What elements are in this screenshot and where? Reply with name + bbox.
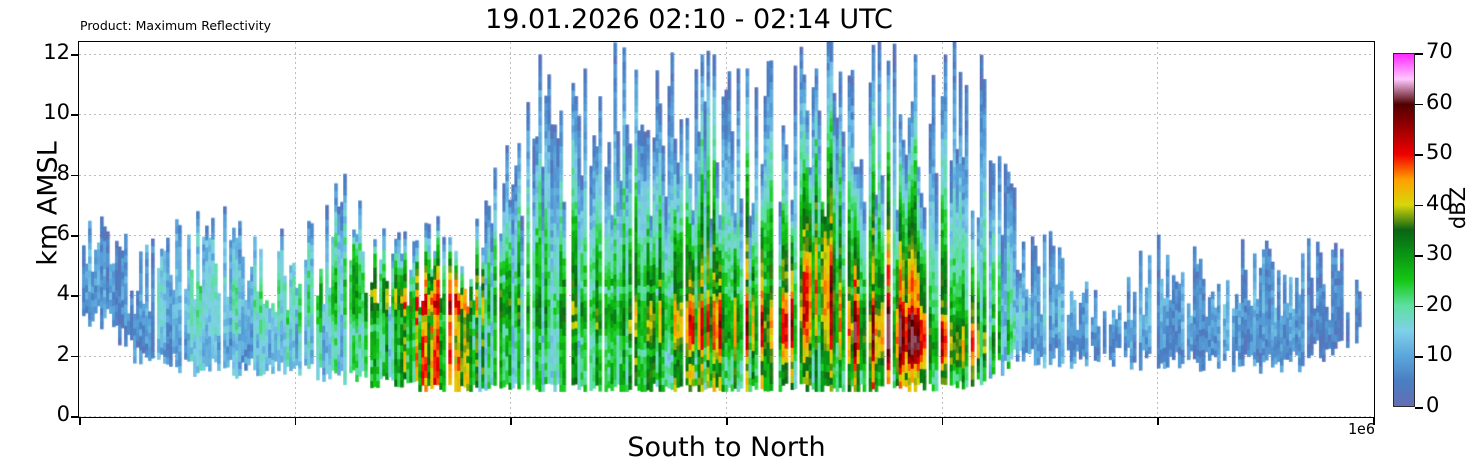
y-tick-mark bbox=[71, 356, 78, 358]
y-tick-label-12: 12 bbox=[43, 40, 70, 64]
x-tick-mark bbox=[1157, 418, 1159, 425]
colorbar-tick-mark bbox=[1415, 53, 1423, 55]
colorbar-tick-label-20: 20 bbox=[1426, 292, 1453, 316]
colorbar-tick-label-0: 0 bbox=[1426, 393, 1439, 417]
plot-area[interactable] bbox=[78, 41, 1375, 418]
colorbar-tick-mark bbox=[1415, 205, 1423, 207]
radar-cross-section-figure: Product: Maximum Reflectivity 19.01.2026… bbox=[0, 0, 1482, 470]
y-tick-mark bbox=[71, 54, 78, 56]
y-axis-label: km AMSL bbox=[33, 114, 64, 294]
x-axis-label: South to North bbox=[78, 432, 1375, 463]
y-tick-label-2: 2 bbox=[57, 342, 70, 366]
x-tick-mark bbox=[79, 418, 81, 425]
y-tick-mark bbox=[71, 175, 78, 177]
x-tick-mark bbox=[726, 418, 728, 425]
colorbar-tick-mark bbox=[1415, 154, 1423, 156]
y-tick-label-10: 10 bbox=[43, 100, 70, 124]
colorbar-tick-mark bbox=[1415, 255, 1423, 257]
colorbar-tick-mark bbox=[1415, 306, 1423, 308]
reflectivity-heatmap bbox=[79, 42, 1374, 417]
y-tick-label-0: 0 bbox=[57, 402, 70, 426]
colorbar-tick-mark bbox=[1415, 407, 1423, 409]
colorbar[interactable] bbox=[1393, 53, 1415, 407]
chart-title: 19.01.2026 02:10 - 02:14 UTC bbox=[0, 4, 1378, 35]
y-tick-mark bbox=[71, 295, 78, 297]
colorbar-gradient bbox=[1394, 54, 1414, 406]
y-tick-label-6: 6 bbox=[57, 221, 70, 245]
y-tick-label-8: 8 bbox=[57, 161, 70, 185]
colorbar-tick-mark bbox=[1415, 356, 1423, 358]
colorbar-title: dBZ bbox=[1446, 148, 1470, 268]
x-tick-mark bbox=[510, 418, 512, 425]
y-tick-mark bbox=[71, 235, 78, 237]
colorbar-tick-label-10: 10 bbox=[1426, 342, 1453, 366]
x-tick-mark bbox=[942, 418, 944, 425]
y-tick-label-4: 4 bbox=[57, 281, 70, 305]
colorbar-tick-label-60: 60 bbox=[1426, 90, 1453, 114]
colorbar-tick-mark bbox=[1415, 104, 1423, 106]
colorbar-tick-label-70: 70 bbox=[1426, 39, 1453, 63]
y-tick-mark bbox=[71, 416, 78, 418]
y-tick-mark bbox=[71, 114, 78, 116]
x-axis-offset-label: 1e6 bbox=[1305, 420, 1375, 438]
x-tick-mark bbox=[295, 418, 297, 425]
